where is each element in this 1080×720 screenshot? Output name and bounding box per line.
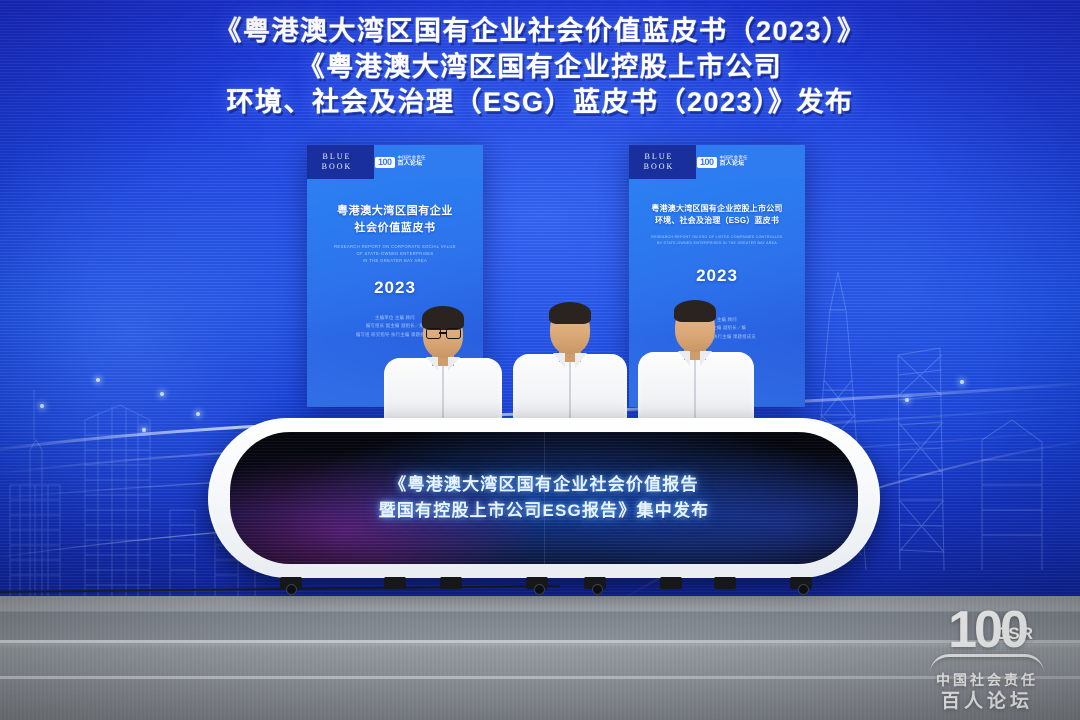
podium-caster-wheel xyxy=(534,584,545,595)
blue-book-badge-line2: BOOK xyxy=(322,162,353,172)
blue-book-badge-left: BLUE BOOK xyxy=(307,145,367,179)
forum-logo-mark-left: 100 中国社会责任 百人论坛 xyxy=(375,156,426,168)
bokeh-spark xyxy=(40,404,44,408)
podium-leg xyxy=(440,577,462,589)
headline-line-2: 《粤港澳大湾区国有企业控股上市公司 xyxy=(0,50,1080,86)
book-en-title-line3-left: IN THE GREATER BAY AREA xyxy=(317,258,473,265)
presenter-center-collar-right xyxy=(575,353,587,368)
event-headline: 《粤港澳大湾区国有企业社会价值蓝皮书（2023）》 《粤港澳大湾区国有企业控股上… xyxy=(0,14,1080,121)
forum-mark-number-left: 100 xyxy=(375,157,395,168)
book-en-title-left: RESEARCH REPORT ON CORPORATE SOCIAL VALU… xyxy=(317,244,473,264)
csr-logo-cn-line1: 中国社会责任 xyxy=(912,672,1062,690)
bokeh-spark xyxy=(142,428,146,432)
book-en-title-line1-right: RESEARCH REPORT ON ESG OF LISTED COMPANI… xyxy=(639,235,795,241)
csr-logo-number: 100 xyxy=(912,604,1062,656)
podium-console: 《粤港澳大湾区国有企业社会价值报告 暨国有控股上市公司ESG报告》集中发布 xyxy=(208,418,880,578)
presenter-right-collar-left xyxy=(678,351,690,366)
headline-line-1: 《粤港澳大湾区国有企业社会价值蓝皮书（2023）》 xyxy=(0,14,1080,50)
presenter-left-collar-right xyxy=(448,357,460,371)
bokeh-spark xyxy=(160,392,164,396)
book-cn-title-line2-left: 社会价值蓝皮书 xyxy=(317,220,473,237)
blue-book-badge-line1-right: BLUE xyxy=(645,152,674,162)
podium-caster-wheel xyxy=(592,584,603,595)
forum-mark-cn-big-right: 百人论坛 xyxy=(720,161,748,168)
forum-mark-text-right: 中国社会责任 百人论坛 xyxy=(720,156,748,168)
csr-forum-logo: 100 CSR 中国社会责任 百人论坛 xyxy=(912,604,1062,708)
book-year-right: 2023 xyxy=(639,266,795,286)
presenter-left-glasses-lens-r xyxy=(446,328,461,339)
forum-logo-mark-right: 100 中国社会责任 百人论坛 xyxy=(697,156,748,168)
podium-caster-wheel xyxy=(286,584,297,595)
csr-logo-arc xyxy=(930,654,1044,673)
presenter-right-collar-right xyxy=(700,351,712,366)
presenter-left-collar-left xyxy=(426,357,438,371)
podium-leg xyxy=(660,577,682,589)
blue-book-badge-line1: BLUE xyxy=(323,152,352,162)
blue-book-badge-right: BLUE BOOK xyxy=(629,145,689,179)
book-en-title-line2-right: BY STATE-OWNED ENTERPRISES IN THE GREATE… xyxy=(639,241,795,247)
book-en-title-right: RESEARCH REPORT ON ESG OF LISTED COMPANI… xyxy=(639,235,795,247)
stage-photo-scene: 《粤港澳大湾区国有企业社会价值蓝皮书（2023）》 《粤港澳大湾区国有企业控股上… xyxy=(0,0,1080,720)
book-cover-header-left: BLUE BOOK 100 中国社会责任 百人论坛 xyxy=(307,145,483,179)
presenter-right-hair xyxy=(674,300,716,322)
csr-logo-cn-line2: 百人论坛 xyxy=(912,690,1062,714)
forum-mark-cn-big-left: 百人论坛 xyxy=(398,161,426,168)
headline-line-3: 环境、社会及治理（ESG）蓝皮书（2023）》发布 xyxy=(0,85,1080,121)
forum-mark-number-right: 100 xyxy=(697,157,717,168)
book-cn-title-line1-left: 粤港澳大湾区国有企业 xyxy=(317,203,473,220)
csr-logo-top: 100 CSR xyxy=(912,604,1062,660)
presenter-left-hair xyxy=(422,306,464,330)
presenter-center-hair xyxy=(549,302,591,324)
csr-logo-badge: CSR xyxy=(995,624,1034,644)
book-en-title-line2-left: OF STATE-OWNED ENTERPRISES xyxy=(317,251,473,258)
podium-caster-wheel xyxy=(798,584,809,595)
book-cn-title-right: 粤港澳大湾区国有企业控股上市公司 环境、社会及治理（ESG）蓝皮书 xyxy=(639,203,795,228)
presenter-center-collar-left xyxy=(553,353,565,368)
presenter-left-glasses-bridge xyxy=(439,332,446,334)
book-cn-title-line2-right: 环境、社会及治理（ESG）蓝皮书 xyxy=(639,215,795,227)
bokeh-spark xyxy=(196,412,200,416)
book-cn-title-left: 粤港澳大湾区国有企业 社会价值蓝皮书 xyxy=(317,203,473,237)
book-year-left: 2023 xyxy=(317,278,473,298)
bokeh-spark xyxy=(96,378,100,382)
podium-led-screen: 《粤港澳大湾区国有企业社会价值报告 暨国有控股上市公司ESG报告》集中发布 xyxy=(230,432,858,564)
podium-leg xyxy=(714,577,736,589)
forum-mark-text-left: 中国社会责任 百人论坛 xyxy=(398,156,426,168)
bokeh-spark xyxy=(905,398,909,402)
bokeh-spark xyxy=(960,380,964,384)
book-en-title-line1-left: RESEARCH REPORT ON CORPORATE SOCIAL VALU… xyxy=(317,244,473,251)
book-cn-title-line1-right: 粤港澳大湾区国有企业控股上市公司 xyxy=(639,203,795,215)
podium-screen-seam xyxy=(544,432,545,564)
podium-leg xyxy=(384,577,406,589)
blue-book-badge-line2-right: BOOK xyxy=(644,162,675,172)
book-cover-header-right: BLUE BOOK 100 中国社会责任 百人论坛 xyxy=(629,145,805,179)
